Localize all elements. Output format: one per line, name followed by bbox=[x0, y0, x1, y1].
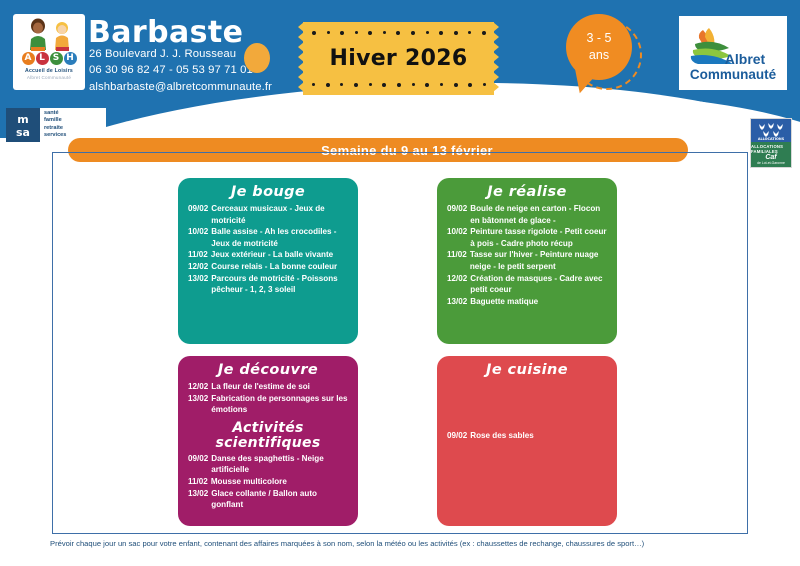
activity-date: 09/02 bbox=[188, 203, 211, 226]
activity-date: 12/02 bbox=[447, 273, 470, 296]
activity-text: La fleur de l'estime de soi bbox=[211, 381, 348, 393]
caf-logo: ALLOCATIONS ALLOCATIONS FAMILIALES Caf d… bbox=[750, 118, 792, 168]
alsh-caption-line1: Accueil de Loisirs bbox=[25, 68, 73, 74]
activity-row: 09/02Boule de neige en carton - Flocon e… bbox=[447, 203, 607, 226]
activity-text: Jeux extérieur - La balle vivante bbox=[211, 249, 348, 261]
ticket-bottom-dots bbox=[312, 82, 486, 87]
alsh-letter-s: S bbox=[50, 52, 63, 65]
activity-text: Boule de neige en carton - Flocon en bât… bbox=[470, 203, 607, 226]
activity-text: Baguette matique bbox=[470, 296, 607, 308]
footer-note: Prévoir chaque jour un sac pour votre en… bbox=[50, 538, 790, 549]
activity-date: 13/02 bbox=[188, 488, 211, 511]
age-badge: 3 - 5 ans bbox=[566, 14, 632, 80]
activity-date: 10/02 bbox=[188, 226, 211, 249]
orange-dot-decoration bbox=[244, 43, 270, 73]
flyer-page: A L S H Accueil de Loisirs Albret Commun… bbox=[0, 0, 800, 566]
activity-text: Tasse sur l'hiver - Peinture nuage neige… bbox=[470, 249, 607, 272]
age-badge-unit: ans bbox=[589, 47, 609, 64]
msa-logo-words: santé famille retraite services bbox=[44, 108, 66, 140]
activity-date: 13/02 bbox=[447, 296, 470, 308]
activity-text: Mousse multicolore bbox=[211, 476, 348, 488]
activity-date: 10/02 bbox=[447, 226, 470, 249]
activity-row: 11/02Tasse sur l'hiver - Peinture nuage … bbox=[447, 249, 607, 272]
content-frame bbox=[52, 152, 748, 534]
activity-row: 12/02La fleur de l'estime de soi bbox=[188, 381, 348, 393]
activity-row: 12/02Création de masques - Cadre avec pe… bbox=[447, 273, 607, 296]
svg-text:m: m bbox=[17, 113, 28, 126]
activity-card-je-realise: Je réalise 09/02Boule de neige en carton… bbox=[437, 178, 617, 344]
alsh-letter-badges: A L S H bbox=[22, 52, 77, 65]
activity-row: 10/02Peinture tasse rigolote - Petit coe… bbox=[447, 226, 607, 249]
activity-date: 09/02 bbox=[447, 203, 470, 226]
activity-row: 13/02Baguette matique bbox=[447, 296, 607, 308]
activity-date: 12/02 bbox=[188, 381, 211, 393]
alsh-children-illustration-icon bbox=[18, 17, 80, 51]
alsh-caption-line2: Albret Communauté bbox=[27, 75, 71, 80]
alsh-letter-l: L bbox=[36, 52, 49, 65]
activity-text: Cerceaux musicaux - Jeux de motricité bbox=[211, 203, 348, 226]
albret-logo-line2: Communauté bbox=[690, 67, 776, 82]
activity-date: 09/02 bbox=[447, 430, 470, 442]
town-title: Barbaste bbox=[88, 15, 243, 50]
season-ticket-badge: Hiver 2026 bbox=[303, 22, 494, 95]
activity-text: Rose des sables bbox=[470, 430, 607, 442]
activity-date: 12/02 bbox=[188, 261, 211, 273]
activity-text: Course relais - La bonne couleur bbox=[211, 261, 348, 273]
msa-word-2: famille bbox=[44, 117, 66, 124]
msa-word-4: services bbox=[44, 132, 66, 139]
caf-line1: ALLOCATIONS FAMILIALES bbox=[751, 144, 791, 154]
activity-row: 11/02Mousse multicolore bbox=[188, 476, 348, 488]
activity-row: 09/02Rose des sables bbox=[447, 430, 607, 442]
activity-text: Fabrication de personnages sur les émoti… bbox=[211, 393, 348, 416]
activity-text: Glace collante / Ballon auto gonflant bbox=[211, 488, 348, 511]
activity-row: 11/02Jeux extérieur - La balle vivante bbox=[188, 249, 348, 261]
alsh-logo: A L S H Accueil de Loisirs Albret Commun… bbox=[13, 14, 85, 90]
caf-line2: Caf bbox=[765, 154, 776, 161]
albret-communaute-logo: Albret Communauté bbox=[679, 16, 787, 90]
caf-line3: de Lot-et-Garonne bbox=[757, 161, 785, 165]
activity-date: 13/02 bbox=[188, 393, 211, 416]
activity-date: 11/02 bbox=[447, 249, 470, 272]
activity-text: Parcours de motricité - Poissons pêcheur… bbox=[211, 273, 348, 296]
caf-birds-icon: ALLOCATIONS bbox=[754, 120, 788, 140]
activity-text: Danse des spaghettis - Neige artificiell… bbox=[211, 453, 348, 476]
albret-logo-line1: Albret bbox=[725, 52, 765, 66]
activity-row: 13/02Fabrication de personnages sur les … bbox=[188, 393, 348, 416]
svg-text:ALLOCATIONS: ALLOCATIONS bbox=[758, 137, 785, 140]
alsh-letter-h: H bbox=[64, 52, 77, 65]
activity-text: Balle assise - Ah les crocodiles - Jeux … bbox=[211, 226, 348, 249]
ticket-left-zigzag-icon bbox=[297, 22, 304, 95]
activity-row: 12/02Course relais - La bonne couleur bbox=[188, 261, 348, 273]
activity-card-title: Je cuisine bbox=[447, 362, 607, 378]
activity-card-subtitle: Activités scientifiques bbox=[188, 421, 348, 451]
season-ticket-label: Hiver 2026 bbox=[330, 46, 468, 71]
activity-date: 11/02 bbox=[188, 249, 211, 261]
msa-word-3: retraite bbox=[44, 125, 66, 132]
ticket-right-zigzag-icon bbox=[493, 22, 500, 95]
activity-card-title: Je bouge bbox=[188, 184, 348, 200]
caf-logo-top: ALLOCATIONS bbox=[751, 119, 791, 142]
svg-text:sa: sa bbox=[16, 126, 30, 139]
msa-word-1: santé bbox=[44, 110, 66, 117]
activity-text: Création de masques - Cadre avec petit c… bbox=[470, 273, 607, 296]
ticket-top-dots bbox=[312, 30, 486, 35]
activity-row: 09/02Cerceaux musicaux - Jeux de motrici… bbox=[188, 203, 348, 226]
caf-logo-bottom: ALLOCATIONS FAMILIALES Caf de Lot-et-Gar… bbox=[751, 142, 791, 167]
activity-card-je-decouvre: Je découvre 12/02La fleur de l'estime de… bbox=[178, 356, 358, 526]
activity-date: 13/02 bbox=[188, 273, 211, 296]
alsh-letter-a: A bbox=[22, 52, 35, 65]
activity-text: Peinture tasse rigolote - Petit coeur à … bbox=[470, 226, 607, 249]
activity-row: 13/02Parcours de motricité - Poissons pê… bbox=[188, 273, 348, 296]
activity-row: 10/02Balle assise - Ah les crocodiles - … bbox=[188, 226, 348, 249]
activity-row: 09/02Danse des spaghettis - Neige artifi… bbox=[188, 453, 348, 476]
age-badge-range: 3 - 5 bbox=[586, 30, 611, 47]
msa-mark-icon: m sa bbox=[6, 108, 40, 142]
activity-card-title: Je réalise bbox=[447, 184, 607, 200]
activity-date: 11/02 bbox=[188, 476, 211, 488]
contact-email: alshbarbaste@albretcommunaute.fr bbox=[89, 79, 272, 95]
activity-date: 09/02 bbox=[188, 453, 211, 476]
activity-card-je-bouge: Je bouge 09/02Cerceaux musicaux - Jeux d… bbox=[178, 178, 358, 344]
activity-card-title: Je découvre bbox=[188, 362, 348, 378]
activity-card-je-cuisine: Je cuisine 09/02Rose des sables bbox=[437, 356, 617, 526]
activity-row: 13/02Glace collante / Ballon auto gonfla… bbox=[188, 488, 348, 511]
